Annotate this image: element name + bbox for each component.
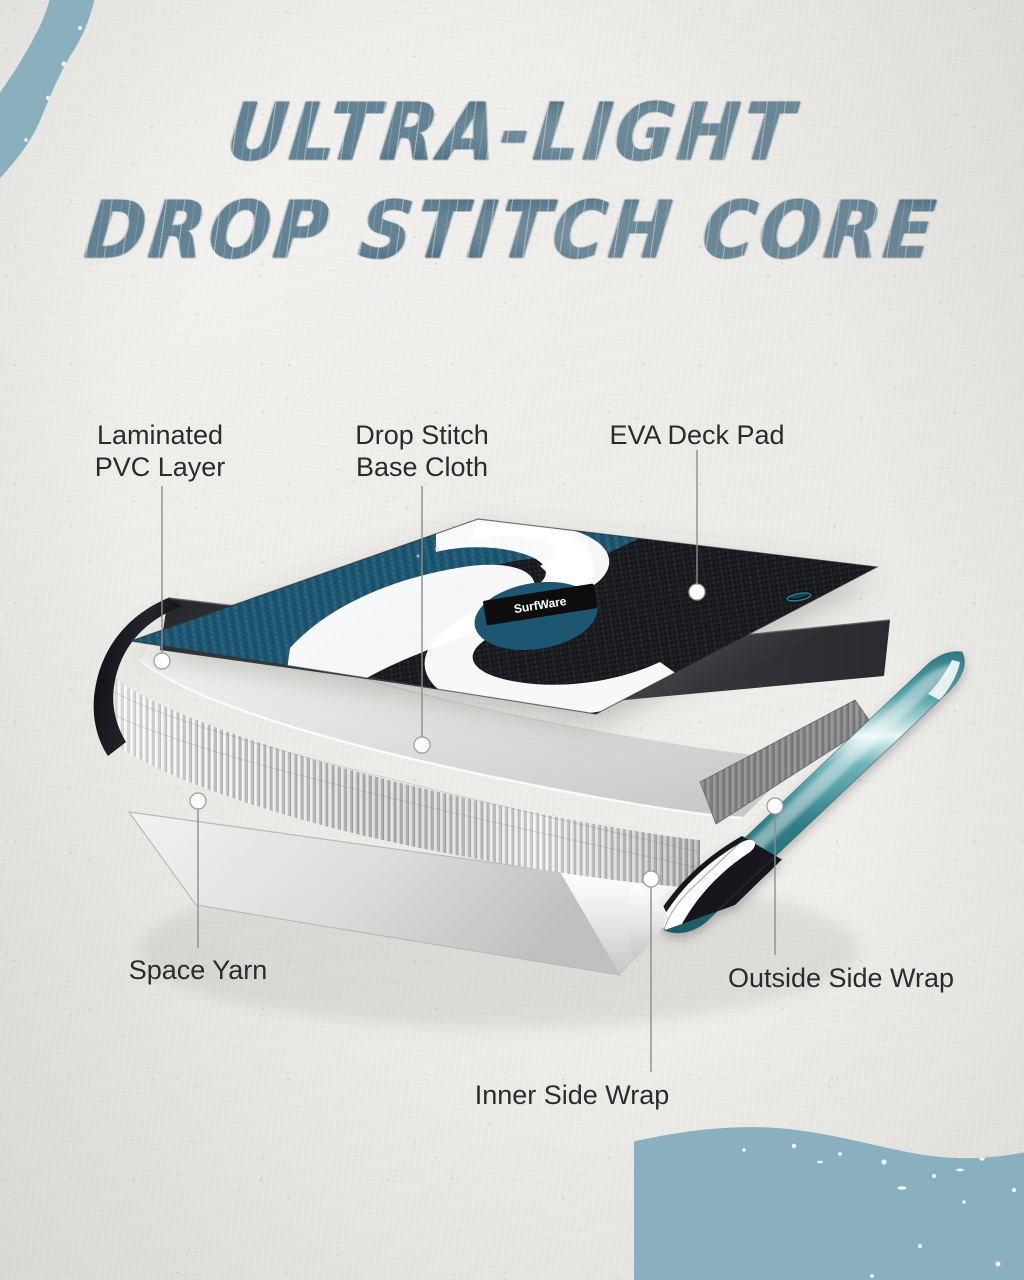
callout-label-eva-deck-pad: EVA Deck Pad [185,420,1024,452]
callout-label-inner-side-wrap: Inner Side Wrap [60,1080,1024,1112]
callout-label-outside-side-wrap: Outside Side Wrap [329,963,1024,995]
infographic-canvas: ULTRA-LIGHT DROP STITCH CORE [0,0,1024,1280]
